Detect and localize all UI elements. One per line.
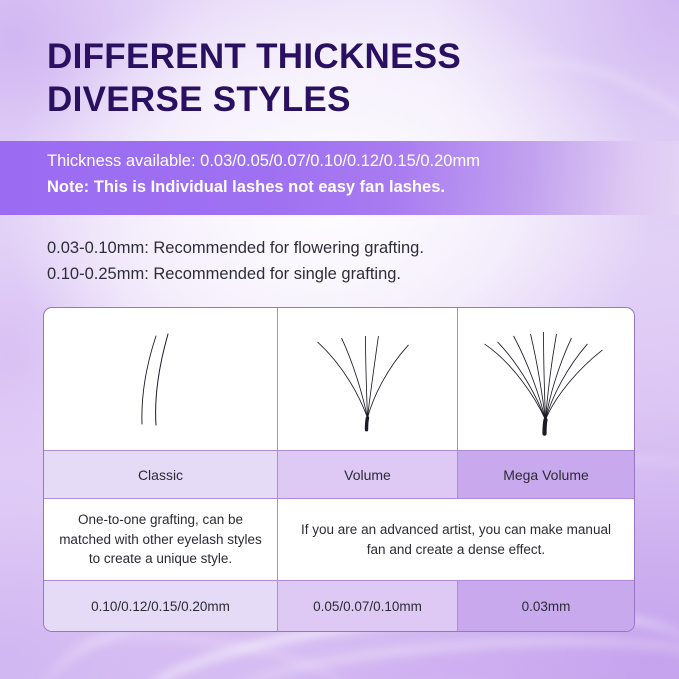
illustration-cell-volume xyxy=(277,308,457,450)
page-title: DIFFERENT THICKNESS DIVERSE STYLES xyxy=(47,36,647,121)
description-text-volume-mega: If you are an advanced artist, you can m… xyxy=(278,520,634,559)
thickness-available-text: Thickness available: 0.03/0.05/0.07/0.10… xyxy=(47,149,679,175)
thickness-value-classic: 0.10/0.12/0.15/0.20mm xyxy=(44,580,277,631)
mega-volume-fan-icon xyxy=(458,308,634,450)
description-cell-classic: One-to-one grafting, can be matched with… xyxy=(44,498,277,580)
banner-note-text: Note: This is Individual lashes not easy… xyxy=(47,175,679,201)
style-label-volume: Volume xyxy=(277,450,457,498)
volume-fan-icon xyxy=(278,308,457,450)
recommendation-line-2: 0.10-0.25mm: Recommended for single graf… xyxy=(47,261,424,287)
lash-style-comparison-table: Classic Volume Mega Volume One-to-one gr… xyxy=(43,307,635,632)
description-text-classic: One-to-one grafting, can be matched with… xyxy=(44,510,277,569)
single-lash-icon xyxy=(44,308,277,450)
style-label-classic: Classic xyxy=(44,450,277,498)
page-title-line-1: DIFFERENT THICKNESS xyxy=(47,36,647,79)
style-label-mega-volume: Mega Volume xyxy=(457,450,634,498)
illustration-cell-mega-volume xyxy=(457,308,634,450)
recommendation-block: 0.03-0.10mm: Recommended for flowering g… xyxy=(47,235,424,287)
page-title-line-2: DIVERSE STYLES xyxy=(47,79,647,122)
description-cell-volume-mega: If you are an advanced artist, you can m… xyxy=(277,498,634,580)
table-row-illustrations xyxy=(44,308,634,450)
thickness-value-mega-volume: 0.03mm xyxy=(457,580,634,631)
thickness-value-volume: 0.05/0.07/0.10mm xyxy=(277,580,457,631)
table-row-descriptions: One-to-one grafting, can be matched with… xyxy=(44,498,634,580)
recommendation-line-1: 0.03-0.10mm: Recommended for flowering g… xyxy=(47,235,424,261)
infographic-page: DIFFERENT THICKNESS DIVERSE STYLES Thick… xyxy=(0,0,679,679)
illustration-cell-classic xyxy=(44,308,277,450)
thickness-banner: Thickness available: 0.03/0.05/0.07/0.10… xyxy=(0,141,679,215)
table-row-thickness: 0.10/0.12/0.15/0.20mm 0.05/0.07/0.10mm 0… xyxy=(44,580,634,631)
table-row-style-labels: Classic Volume Mega Volume xyxy=(44,450,634,498)
